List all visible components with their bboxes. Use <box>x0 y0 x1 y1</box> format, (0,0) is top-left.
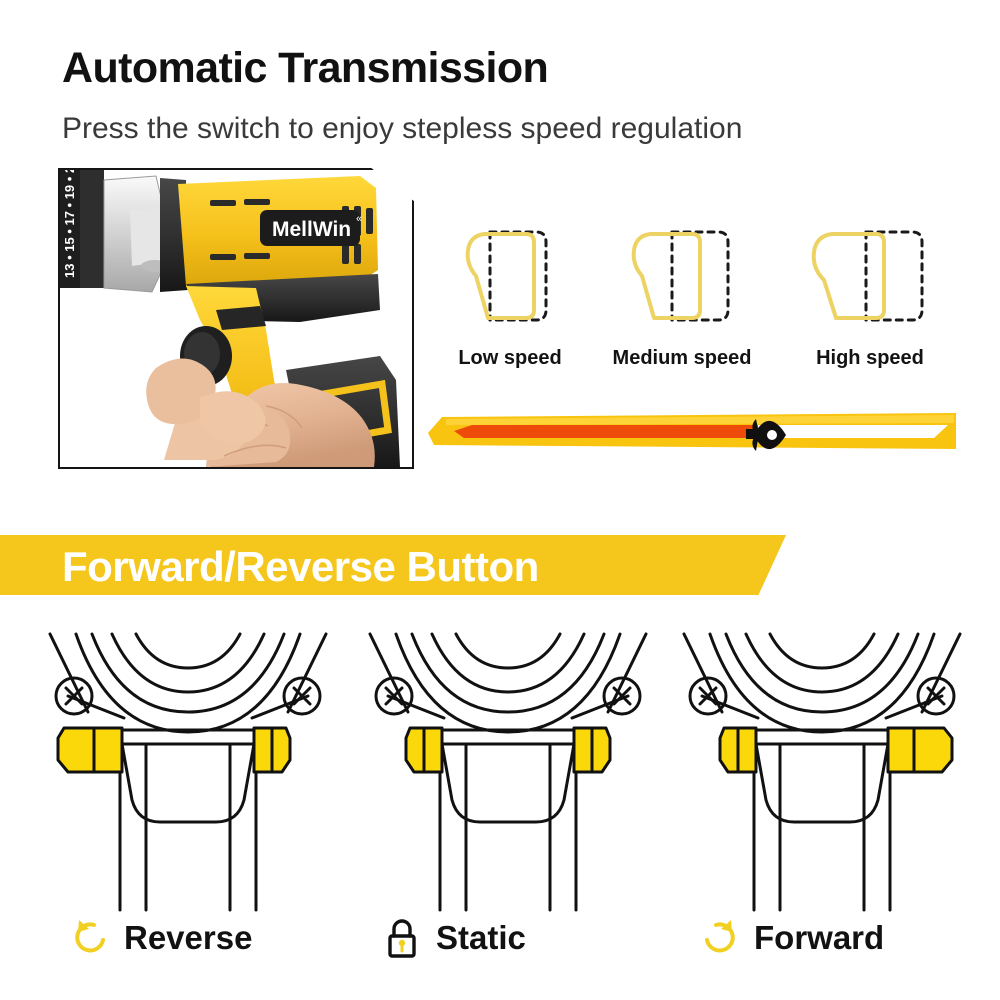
trigger-art-high <box>790 222 950 337</box>
page-subtitle: Press the switch to enjoy stepless speed… <box>62 112 742 146</box>
trigger-art-medium <box>602 222 762 337</box>
trigger-label-high: High speed <box>790 347 950 370</box>
trigger-diagram-medium: Medium speed <box>602 222 762 370</box>
direction-panel-reverse <box>28 614 348 914</box>
direction-button-right[interactable] <box>888 728 952 772</box>
legend-forward: Forward <box>700 915 884 961</box>
trigger-diagram-high: High speed <box>790 222 950 370</box>
section-banner-title: Forward/Reverse Button <box>62 543 539 591</box>
legend-label-static: Static <box>436 919 526 957</box>
speed-bar-graphic <box>428 409 956 453</box>
trigger-outline-medium <box>620 222 744 330</box>
trigger-outline-low <box>448 222 572 330</box>
drill-topview-reverse <box>28 614 348 914</box>
lock-icon <box>382 916 422 960</box>
direction-button-right[interactable] <box>574 728 610 772</box>
trigger-label-low: Low speed <box>430 347 590 370</box>
legend-label-forward: Forward <box>754 919 884 957</box>
drill-photo-illustration: 13 • 15 • 17 • 19 • 21 MellWin « <box>60 170 412 467</box>
direction-button-left[interactable] <box>720 728 756 772</box>
brand-label: MellWin <box>272 218 351 241</box>
rotate-clockwise-icon <box>700 916 740 960</box>
drill-topview-forward <box>662 614 982 914</box>
trigger-diagram-low: Low speed <box>430 222 590 370</box>
torque-ring-numbers: 13 • 15 • 17 • 19 • 21 <box>62 170 77 278</box>
drill-topview-static <box>348 614 668 914</box>
brand-mark: « <box>356 213 362 225</box>
page-title: Automatic Transmission <box>62 44 548 93</box>
direction-button-left[interactable] <box>58 728 122 772</box>
direction-button-right[interactable] <box>254 728 290 772</box>
product-photo: 13 • 15 • 17 • 19 • 21 MellWin « <box>58 168 414 469</box>
legend-static: Static <box>382 915 526 961</box>
direction-button-left[interactable] <box>406 728 442 772</box>
legend-reverse: Reverse <box>70 915 252 961</box>
rotate-counter-clockwise-icon <box>70 916 110 960</box>
trigger-art-low <box>430 222 590 337</box>
speed-bar-fill <box>454 425 758 438</box>
trigger-label-medium: Medium speed <box>602 347 762 370</box>
direction-panel-static <box>348 614 668 914</box>
legend-label-reverse: Reverse <box>124 919 252 957</box>
torque-collar: 13 • 15 • 17 • 19 • 21 <box>60 170 104 288</box>
speed-progress-bar[interactable] <box>428 409 956 453</box>
direction-panel-forward <box>662 614 982 914</box>
trigger-outline-high <box>808 222 932 330</box>
